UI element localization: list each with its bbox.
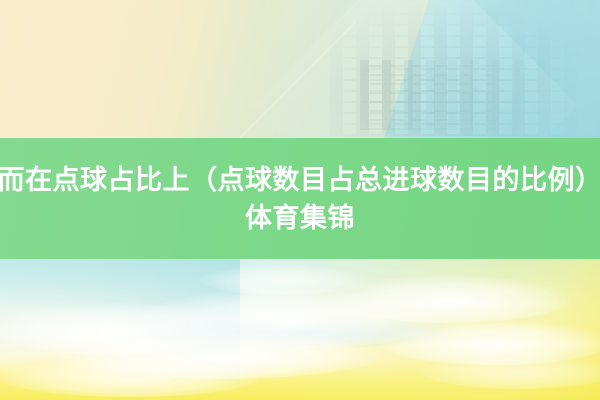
header-gradient-region (0, 0, 600, 138)
banner-image: 而在点球占比上（点球数目占总进球数目的比例） 体育集锦 (0, 0, 600, 400)
caption-line-secondary: 体育集锦 (245, 199, 355, 237)
caption-band: 而在点球占比上（点球数目占总进球数目的比例） 体育集锦 (0, 138, 600, 259)
cloud-icon (200, 265, 370, 295)
sky-gradient-region (0, 259, 600, 400)
cloud-icon (0, 357, 260, 397)
ghosted-table-texture-secondary (360, 60, 560, 130)
caption-line-primary: 而在点球占比上（点球数目占总进球数目的比例） (0, 161, 600, 199)
